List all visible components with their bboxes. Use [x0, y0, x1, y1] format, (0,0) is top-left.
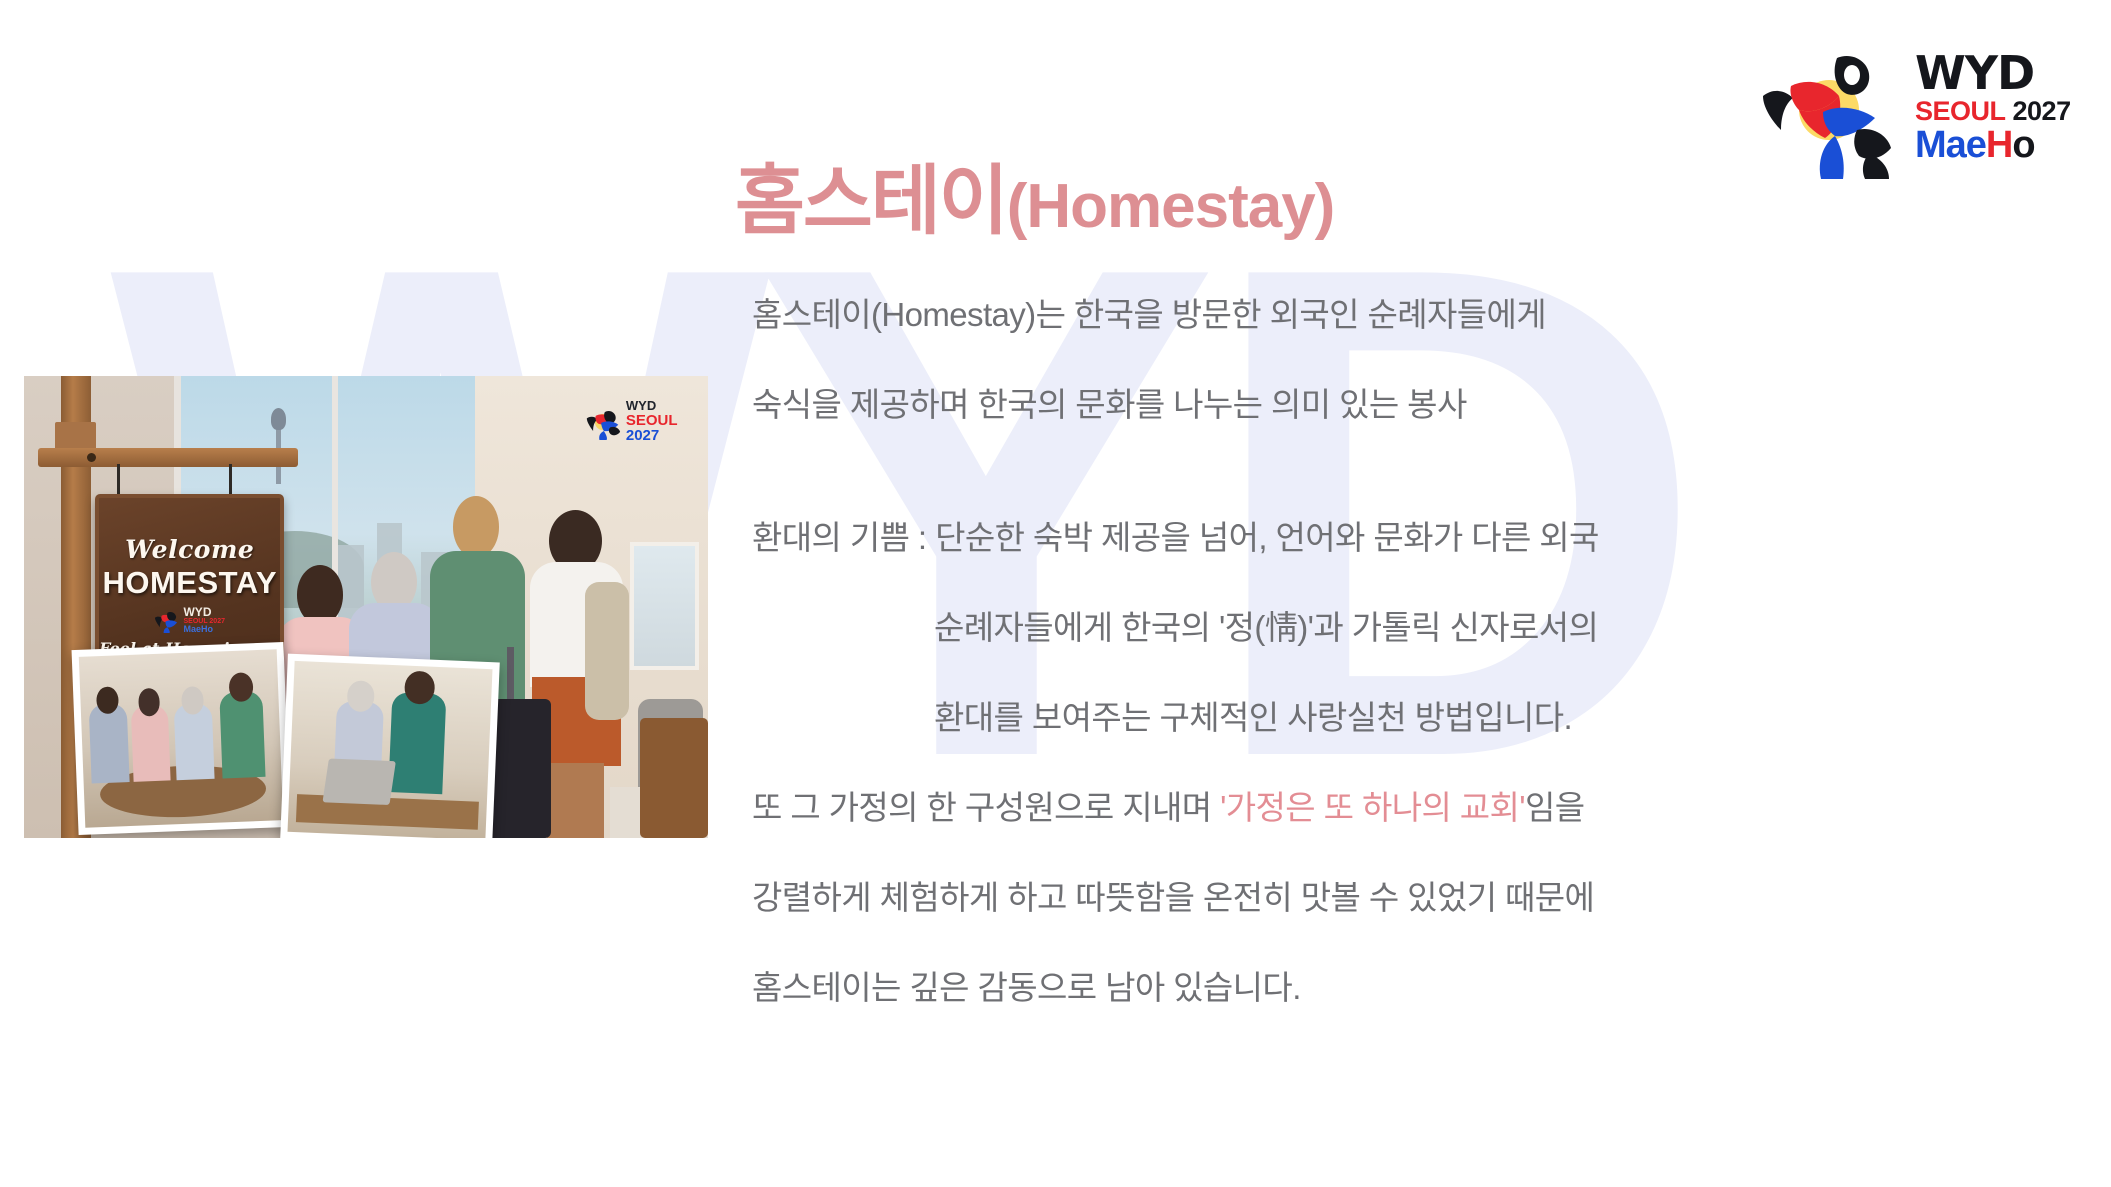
inset-photo-dining	[72, 642, 291, 835]
logo-seoul-text: SEOUL	[1915, 98, 2006, 125]
sign-wyd-emblem-icon	[154, 608, 179, 633]
logo-seoul-row: SEOUL 2027	[1915, 98, 2071, 125]
sign-hook	[229, 464, 232, 496]
testimony-accent-phrase: '가정은 또 하나의 교회'	[1220, 789, 1525, 826]
paragraph-hospitality: 환대의 기쁨 : 단순한 숙박 제공을 넘어, 언어와 문화가 다른 외국 순례…	[752, 521, 2072, 734]
photo-wyd-emblem-icon	[585, 404, 621, 440]
photo-room-scene: WYD SEOUL 2027 Welcome HOMESTAY	[24, 376, 708, 838]
figure-shape	[388, 692, 446, 793]
sign-homestay-text: HOMESTAY	[102, 565, 277, 601]
page-title-korean: 홈스테이	[735, 159, 1007, 244]
figure-shape	[219, 691, 266, 778]
inset-photo-dining-image	[79, 649, 284, 827]
figure-shape	[174, 703, 215, 780]
logo-maeho-row: Mae H o	[1915, 126, 2035, 164]
photo-wyd-logo: WYD SEOUL 2027	[585, 399, 678, 444]
logo-o-text: o	[2012, 126, 2034, 164]
laptop-shape	[322, 758, 396, 805]
body-copy: 홈스테이(Homestay)는 한국을 방문한 외국인 순례자들에게 숙식을 제…	[752, 298, 2072, 1061]
wyd-logo-wordmark: WYD SEOUL 2027 Mae H o	[1911, 50, 2081, 164]
page-title-english: (Homestay)	[1007, 172, 1335, 241]
head-shape	[297, 565, 343, 625]
legs-shape	[547, 763, 605, 838]
photo-logo-year: 2027	[626, 428, 678, 444]
paragraph-testimony-line-3: 홈스테이는 깊은 감동으로 남아 있습니다.	[752, 971, 2072, 1004]
sign-wyd-logo: WYD SEOUL 2027 MaeHo	[154, 606, 225, 634]
paragraph-testimony: 또 그 가정의 한 구성원으로 지내며 '가정은 또 하나의 교회'임을 강렬하…	[752, 791, 2072, 1004]
paragraph-testimony-line-1: 또 그 가정의 한 구성원으로 지내며 '가정은 또 하나의 교회'임을	[752, 791, 2072, 824]
logo-mae-text: Mae	[1915, 126, 1986, 164]
logo-h-text: H	[1986, 126, 2012, 164]
framed-artwork	[630, 542, 698, 670]
photo-logo-seoul: SEOUL	[626, 413, 678, 429]
paragraph-intro: 홈스테이(Homestay)는 한국을 방문한 외국인 순례자들에게 숙식을 제…	[752, 298, 2072, 421]
inset-photo-laptop-image	[287, 661, 492, 838]
slide-canvas: WYD WYD SEOUL 2027 Mae H o	[0, 0, 2111, 1187]
sign-wyd-wordmark: WYD SEOUL 2027 MaeHo	[183, 606, 225, 634]
head-shape	[404, 670, 435, 704]
sign-hook	[117, 464, 120, 496]
paragraph-testimony-line-2: 강렬하게 체험하게 하고 따뜻함을 온전히 맛볼 수 있었기 때문에	[752, 881, 2072, 914]
backpack-shape	[585, 582, 629, 720]
head-shape	[453, 496, 499, 558]
paragraph-intro-line-2: 숙식을 제공하며 한국의 문화를 나누는 의미 있는 봉사	[752, 388, 2072, 421]
testimony-text-after: 임을	[1525, 789, 1585, 826]
suitcase-brown	[640, 718, 708, 838]
wyd-logo: WYD SEOUL 2027 Mae H o	[1751, 34, 2081, 179]
sign-logo-wyd: WYD	[183, 606, 225, 618]
logo-wyd-text: WYD	[1915, 50, 2034, 96]
paragraph-hospitality-line-1: 환대의 기쁨 : 단순한 숙박 제공을 넘어, 언어와 문화가 다른 외국	[752, 521, 2072, 554]
sign-crossbar	[38, 448, 298, 467]
sign-bolt	[87, 453, 96, 462]
figure-shape	[89, 703, 130, 783]
testimony-text-before: 또 그 가정의 한 구성원으로 지내며	[752, 789, 1220, 826]
photo-wyd-wordmark: WYD SEOUL 2027	[626, 399, 678, 444]
logo-year-text: 2027	[2013, 98, 2071, 125]
inset-photo-laptop	[280, 653, 500, 838]
paragraph-intro-line-1: 홈스테이(Homestay)는 한국을 방문한 외국인 순례자들에게	[752, 298, 2072, 331]
homestay-photo: WYD SEOUL 2027 Welcome HOMESTAY	[24, 376, 708, 838]
sign-logo-maeho: MaeHo	[183, 625, 225, 634]
figure-shape	[131, 705, 172, 782]
wyd-emblem-icon	[1751, 34, 1911, 179]
photo-logo-wyd: WYD	[626, 399, 678, 413]
paragraph-hospitality-line-3: 환대를 보여주는 구체적인 사랑실천 방법입니다.	[752, 701, 2072, 734]
sign-welcome-text: Welcome	[125, 535, 254, 564]
paragraph-hospitality-line-2: 순례자들에게 한국의 '정(情)'과 가톨릭 신자로서의	[752, 611, 2072, 644]
page-title: 홈스테이(Homestay)	[735, 139, 1334, 249]
sign-post-cap	[55, 422, 96, 450]
